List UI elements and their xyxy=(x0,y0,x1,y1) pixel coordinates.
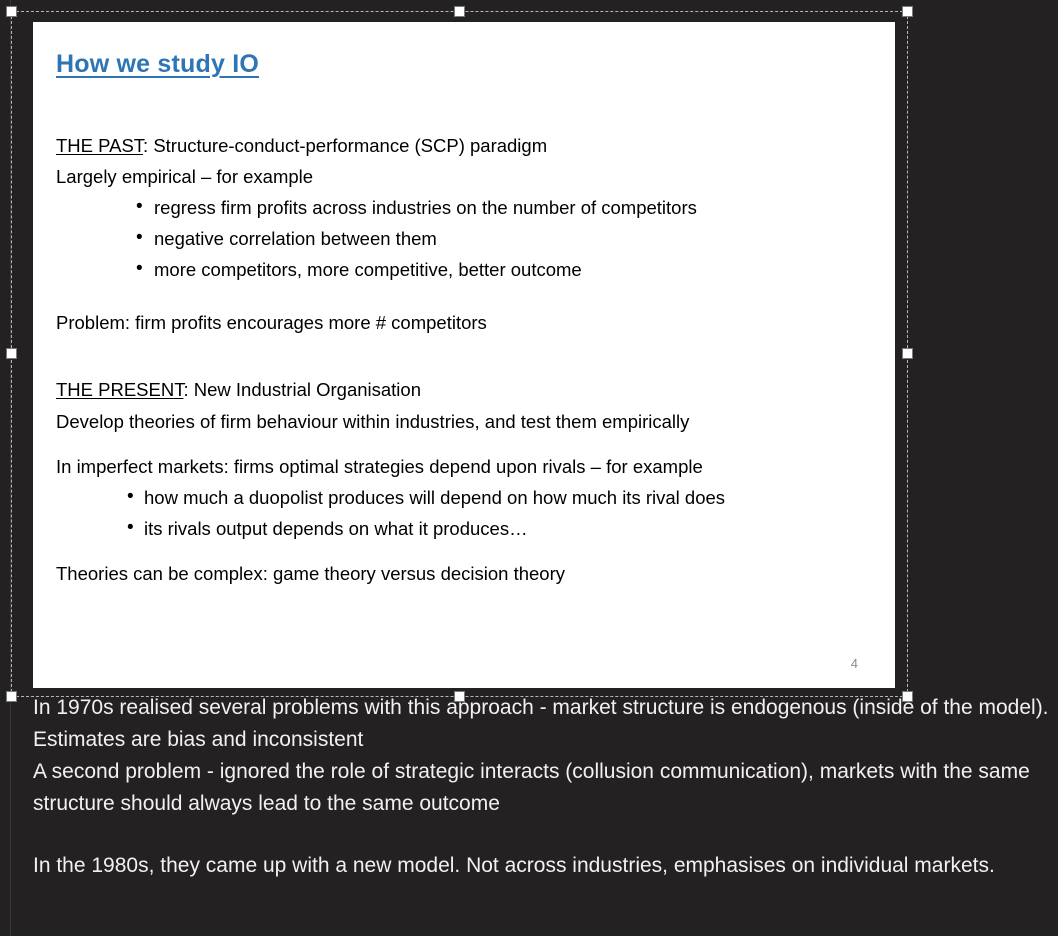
imperfect-markets-line: In imperfect markets: firms optimal stra… xyxy=(56,451,876,482)
slide-canvas[interactable]: How we study IO THE PAST: Structure-cond… xyxy=(33,22,895,688)
notes-paragraph: A second problem - ignored the role of s… xyxy=(33,756,1058,820)
resize-handle-top-left[interactable] xyxy=(6,6,17,17)
resize-handle-top-center[interactable] xyxy=(454,6,465,17)
past-line-2: Largely empirical – for example xyxy=(56,161,876,192)
past-heading-line: THE PAST: Structure-conduct-performance … xyxy=(56,130,876,161)
spacer xyxy=(33,820,1058,850)
problem-line: Problem: firm profits encourages more # … xyxy=(56,307,876,338)
present-heading-label: THE PRESENT xyxy=(56,379,183,400)
list-item: how much a duopolist produces will depen… xyxy=(56,482,876,513)
list-item: more competitors, more competitive, bett… xyxy=(56,254,876,285)
list-item: its rivals output depends on what it pro… xyxy=(56,513,876,544)
theories-line: Theories can be complex: game theory ver… xyxy=(56,558,876,589)
slide-body-text[interactable]: THE PAST: Structure-conduct-performance … xyxy=(56,130,876,589)
present-line-2: Develop theories of firm behaviour withi… xyxy=(56,406,876,437)
spacer xyxy=(56,437,876,451)
spacer xyxy=(56,338,876,360)
notes-paragraph: In the 1980s, they came up with a new mo… xyxy=(33,850,1058,882)
notes-pane[interactable]: In 1970s realised several problems with … xyxy=(33,692,1058,882)
slide-title: How we study IO xyxy=(56,50,259,79)
notes-paragraph: In 1970s realised several problems with … xyxy=(33,692,1058,756)
present-heading-rest: : New Industrial Organisation xyxy=(183,379,421,400)
resize-handle-top-right[interactable] xyxy=(902,6,913,17)
past-heading-label: THE PAST xyxy=(56,135,143,156)
resize-handle-middle-left[interactable] xyxy=(6,348,17,359)
spacer xyxy=(56,285,876,307)
list-item: negative correlation between them xyxy=(56,223,876,254)
left-rail-divider xyxy=(10,0,11,936)
present-heading-line: THE PRESENT: New Industrial Organisation xyxy=(56,374,876,405)
list-item: regress firm profits across industries o… xyxy=(56,192,876,223)
resize-handle-bottom-left[interactable] xyxy=(6,691,17,702)
slide-number: 4 xyxy=(851,656,858,671)
spacer xyxy=(56,360,876,374)
past-heading-rest: : Structure-conduct-performance (SCP) pa… xyxy=(143,135,547,156)
spacer xyxy=(56,544,876,558)
resize-handle-middle-right[interactable] xyxy=(902,348,913,359)
